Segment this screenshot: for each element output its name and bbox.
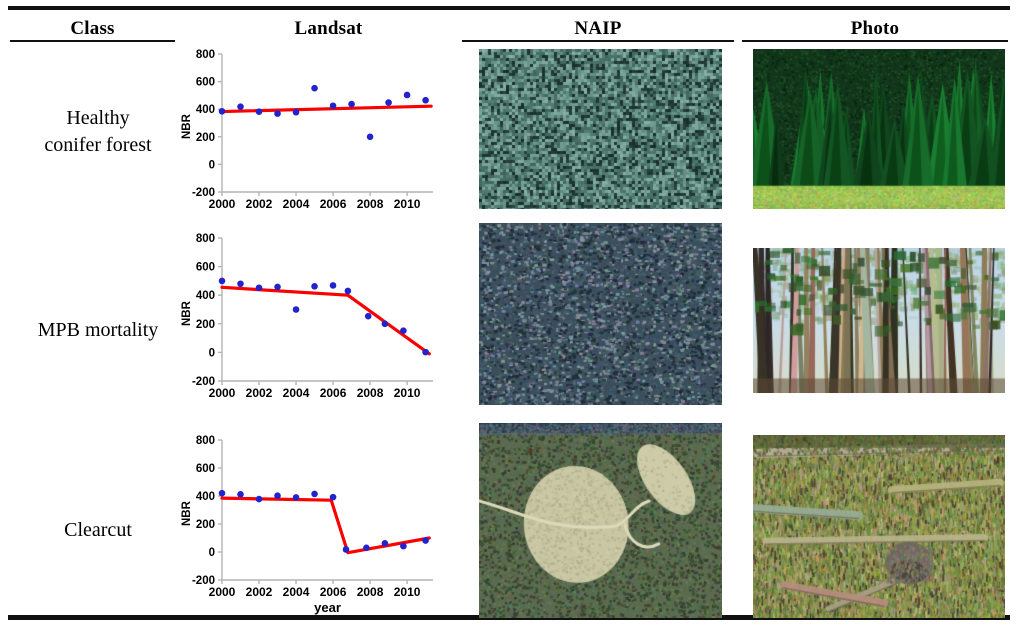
raster-content xyxy=(753,49,1005,209)
column-header-class: Class xyxy=(10,18,175,40)
raster-content xyxy=(479,49,722,209)
svg-text:2006: 2006 xyxy=(320,585,347,599)
svg-text:2010: 2010 xyxy=(394,386,421,400)
svg-text:2006: 2006 xyxy=(320,386,347,400)
header-rule-class xyxy=(10,40,175,42)
svg-text:0: 0 xyxy=(209,347,215,359)
chart-canvas: -200020040060080020002002200420062008201… xyxy=(178,44,443,214)
header-rule-photo xyxy=(742,40,1008,42)
svg-text:2010: 2010 xyxy=(394,585,421,599)
svg-text:400: 400 xyxy=(196,491,215,503)
row-label-line2: conifer forest xyxy=(8,132,188,159)
photo-image-healthy-conifer-forest xyxy=(753,49,1005,209)
svg-text:2002: 2002 xyxy=(246,585,273,599)
svg-text:600: 600 xyxy=(196,77,215,89)
svg-text:2004: 2004 xyxy=(283,386,310,400)
naip-image-mpb-mortality xyxy=(479,223,722,405)
chart-canvas: -200020040060080020002002200420062008201… xyxy=(178,228,443,403)
column-header-naip: NAIP xyxy=(462,18,734,40)
svg-text:2008: 2008 xyxy=(357,386,384,400)
svg-text:0: 0 xyxy=(209,159,215,171)
y-axis-label: NBR xyxy=(181,501,193,526)
column-header-landsat: Landsat xyxy=(196,18,461,40)
column-header-photo: Photo xyxy=(742,18,1008,40)
svg-text:200: 200 xyxy=(196,319,215,331)
svg-text:0: 0 xyxy=(209,547,215,559)
svg-text:800: 800 xyxy=(196,435,215,447)
svg-text:800: 800 xyxy=(196,49,215,61)
row-label-healthy-conifer-forest: Healthy conifer forest xyxy=(8,105,188,159)
svg-text:800: 800 xyxy=(196,233,215,245)
photo-image-mpb-mortality xyxy=(753,248,1005,393)
photo-image-clearcut xyxy=(753,435,1005,618)
row-label-clearcut: Clearcut xyxy=(8,517,188,544)
raster-content xyxy=(753,248,1005,393)
svg-text:2000: 2000 xyxy=(209,386,236,400)
figure-table: Class Landsat NAIP Photo Healthy conifer… xyxy=(0,0,1018,628)
svg-text:2008: 2008 xyxy=(357,585,384,599)
y-axis-label: NBR xyxy=(181,114,193,139)
svg-text:2010: 2010 xyxy=(394,197,421,211)
landsat-chart-mpb-mortality: -200020040060080020002002200420062008201… xyxy=(178,228,443,403)
raster-content xyxy=(479,423,722,618)
svg-text:2000: 2000 xyxy=(209,197,236,211)
svg-text:2002: 2002 xyxy=(246,386,273,400)
chart-canvas: -200020040060080020002002200420062008201… xyxy=(178,430,443,618)
raster-content xyxy=(753,435,1005,618)
svg-text:600: 600 xyxy=(196,262,215,274)
y-axis-label: NBR xyxy=(181,301,193,326)
naip-image-healthy-conifer-forest xyxy=(479,49,722,209)
svg-text:200: 200 xyxy=(196,519,215,531)
svg-text:2008: 2008 xyxy=(357,197,384,211)
svg-text:2000: 2000 xyxy=(209,585,236,599)
row-label-line1: Healthy xyxy=(8,105,188,132)
landsat-chart-clearcut: -200020040060080020002002200420062008201… xyxy=(178,430,443,618)
x-axis-label: year xyxy=(222,600,433,615)
row-label-mpb-mortality: MPB mortality xyxy=(8,317,188,344)
svg-text:2004: 2004 xyxy=(283,585,310,599)
svg-text:2006: 2006 xyxy=(320,197,347,211)
naip-image-clearcut xyxy=(479,423,722,618)
table-top-rule xyxy=(8,6,1010,10)
svg-text:600: 600 xyxy=(196,463,215,475)
svg-text:400: 400 xyxy=(196,290,215,302)
svg-text:2004: 2004 xyxy=(283,197,310,211)
header-rule-naip xyxy=(462,40,734,42)
svg-text:2002: 2002 xyxy=(246,197,273,211)
landsat-chart-healthy-conifer-forest: -200020040060080020002002200420062008201… xyxy=(178,44,443,214)
raster-content xyxy=(479,223,722,405)
svg-text:400: 400 xyxy=(196,104,215,116)
svg-text:200: 200 xyxy=(196,132,215,144)
